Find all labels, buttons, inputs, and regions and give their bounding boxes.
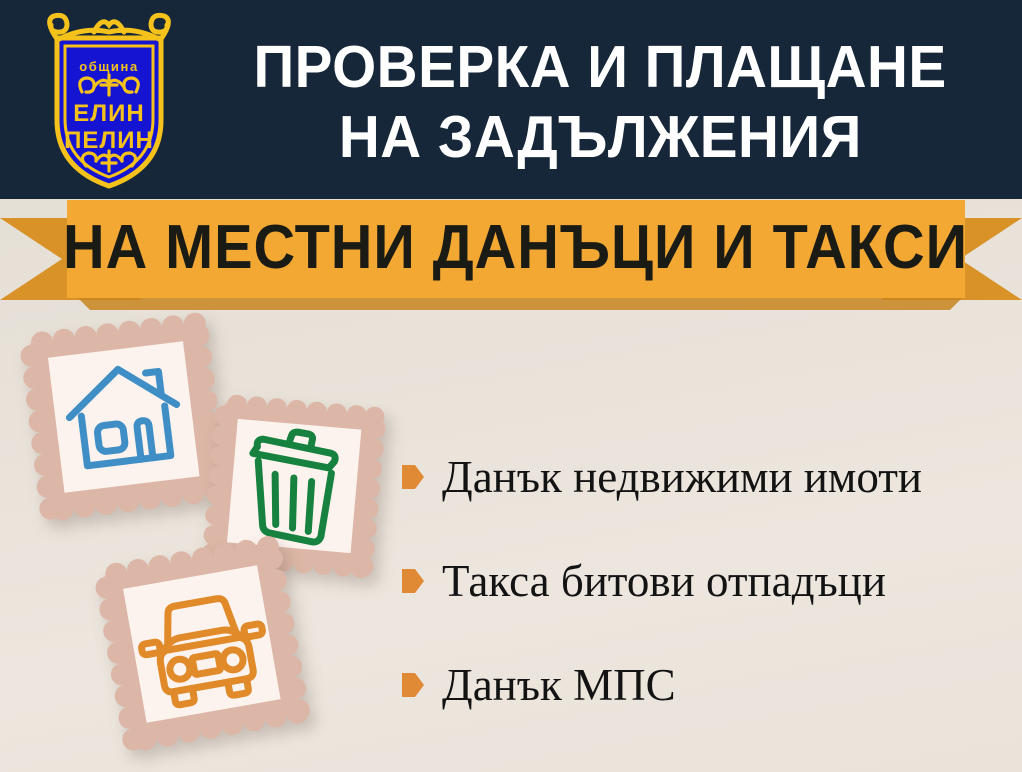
list-item-label: Данък недвижими имоти	[442, 455, 922, 500]
title-line-1: ПРОВЕРКА И ПЛАЩАНЕ	[253, 33, 946, 103]
municipality-logo: община ЕЛИН ПЕЛИН	[24, 8, 194, 193]
list-item-label: Такса битови отпадъци	[442, 559, 886, 604]
page-title: ПРОВЕРКА И ПЛАЩАНЕ НА ЗАДЪЛЖЕНИЯ	[190, 18, 1010, 188]
list-item: Данък недвижими имоти	[402, 425, 1002, 529]
tax-types-list: Данък недвижими имоти Такса битови отпад…	[402, 425, 1002, 737]
list-item: Данък МПС	[402, 633, 1002, 737]
stamp-card-vehicle	[86, 528, 318, 762]
logo-word-obshtina: община	[79, 59, 139, 74]
arrow-bullet-icon	[402, 569, 424, 593]
ribbon-banner: НА МЕСТНИ ДАНЪЦИ И ТАКСИ	[0, 196, 1022, 311]
logo-name-line1: ЕЛИН	[73, 100, 144, 127]
ribbon-panel: НА МЕСТНИ ДАНЪЦИ И ТАКСИ	[67, 200, 965, 298]
arrow-bullet-icon	[402, 465, 424, 489]
poster-canvas: община ЕЛИН ПЕЛИН ПРОВЕРКА И ПЛАЩА	[0, 0, 1022, 772]
title-line-2: НА ЗАДЪЛЖЕНИЯ	[339, 103, 862, 173]
list-item-label: Данък МПС	[442, 663, 676, 708]
ribbon-shadow	[78, 298, 962, 310]
arrow-bullet-icon	[402, 673, 424, 697]
list-item: Такса битови отпадъци	[402, 529, 1002, 633]
ribbon-subtitle: НА МЕСТНИ ДАНЪЦИ И ТАКСИ	[64, 217, 969, 279]
